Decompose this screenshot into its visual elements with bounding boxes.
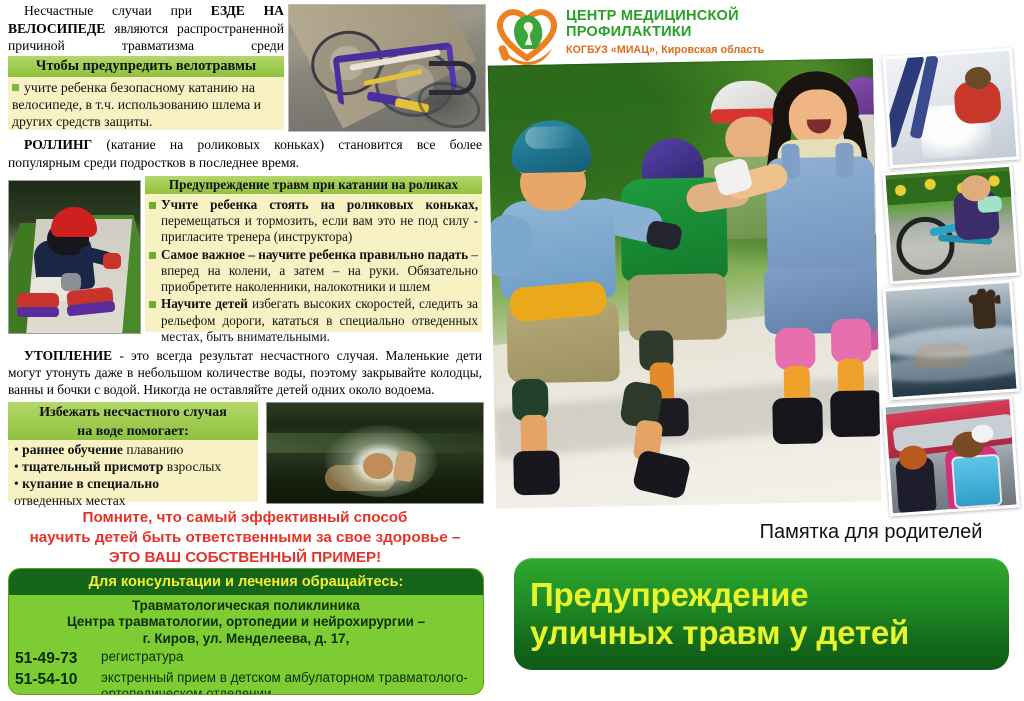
child-rollerblading-photo bbox=[8, 180, 141, 334]
contact-address: г. Киров, ул. Менделеева, д. 17, bbox=[15, 631, 477, 647]
school-backpack bbox=[951, 454, 1003, 509]
contact-center-name: Центра травматологии, ортопедии и нейрох… bbox=[15, 614, 477, 630]
middle-child-shorts bbox=[628, 273, 727, 341]
roller-tip-item: Самое важное – научите ребенка правильно… bbox=[149, 247, 478, 296]
child-helmet-red bbox=[51, 207, 97, 237]
water-tip-bold: раннее обучение bbox=[22, 442, 123, 457]
roller-tip-bold: Самое важное – научите ребенка правильно… bbox=[161, 247, 468, 262]
phone-row: 51-54-10 экстренный прием в детском амбу… bbox=[15, 670, 477, 695]
boy-rollerblade-left bbox=[513, 450, 560, 495]
drowning-photo bbox=[266, 402, 484, 504]
bullet-square-icon bbox=[149, 252, 156, 259]
water-tip-body: • раннее обучение плаванию • тщательный … bbox=[8, 440, 258, 502]
girl-rollerblade-right bbox=[830, 390, 881, 437]
phone-number[interactable]: 51-54-10 bbox=[15, 670, 101, 689]
brochure-page: Несчастные случаи при ЕЗДЕ НА ВЕЛОСИПЕДЕ… bbox=[0, 0, 1024, 701]
phone-number[interactable]: 51-49-73 bbox=[15, 649, 101, 668]
contact-body: Травматологическая поликлиника Центра тр… bbox=[9, 595, 483, 695]
roller-tip-header: Предупреждение травм при катании на роли… bbox=[145, 176, 482, 194]
drowning-hand-photo bbox=[882, 280, 1019, 401]
remember-message: Помните, что самый эффективный способ на… bbox=[8, 508, 482, 568]
water-bullet: • bbox=[14, 459, 19, 474]
girl-knee-pad-left bbox=[775, 328, 816, 371]
logo-line-1: ЦЕНТР МЕДИЦИНСКОЙ bbox=[566, 8, 764, 24]
rolling-intro-paragraph: РОЛЛИНГ (катание на роликовых коньках) с… bbox=[8, 136, 482, 171]
logo-line-2: ПРОФИЛАКТИКИ bbox=[566, 24, 764, 40]
photo-strip bbox=[886, 52, 1020, 512]
drowning-paragraph: УТОПЛЕНИЕ - это всегда результат несчаст… bbox=[8, 347, 482, 398]
bullet-square-icon bbox=[12, 84, 19, 91]
roller-tip-bold: Научите детей bbox=[161, 296, 248, 311]
bike-tip-header: Чтобы предупредить велотравмы bbox=[8, 56, 284, 77]
hand-fingers bbox=[968, 287, 1001, 305]
water-tip-rest: взрослых bbox=[163, 459, 221, 474]
phone-row: 51-49-73 регистратура bbox=[15, 649, 477, 668]
main-title-line-2: уличных травм у детей bbox=[530, 614, 909, 652]
roller-tip-bold: Учите ребенка стоять на роликовых конька… bbox=[161, 197, 478, 212]
bike-intro-prefix: Несчастные случаи при bbox=[24, 3, 211, 18]
phone-description: регистратура bbox=[101, 649, 477, 665]
remember-line-2: научить детей быть ответственными за сво… bbox=[8, 528, 482, 548]
contact-header: Для консультации и лечения обращайтесь: bbox=[9, 569, 483, 595]
water-tip-rest: купание в специально bbox=[22, 476, 159, 491]
bullet-square-icon bbox=[149, 202, 156, 209]
bicycle-fall-photo bbox=[882, 164, 1019, 285]
main-title-box: Предупреждение уличных травм у детей bbox=[514, 558, 1009, 670]
girl-overall-strap-right bbox=[835, 143, 854, 177]
rolling-intro-bold: РОЛЛИНГ bbox=[24, 137, 92, 152]
water-tip-bold: тщательный присмотр bbox=[22, 459, 163, 474]
water-tip-item: • тщательный присмотр взрослых bbox=[14, 459, 254, 476]
child-skate-left-wheels bbox=[17, 307, 59, 317]
child-wrist-guard bbox=[103, 253, 121, 269]
fallen-bicycle-photo bbox=[288, 4, 486, 132]
water-tip-item: • раннее обучение плаванию bbox=[14, 442, 254, 459]
bullet-square-icon bbox=[149, 301, 156, 308]
water-bullet: • bbox=[14, 442, 19, 457]
remember-line-1: Помните, что самый эффективный способ bbox=[8, 508, 482, 528]
contact-box: Для консультации и лечения обращайтесь: … bbox=[8, 568, 484, 695]
water-tip-header-line1: Избежать несчастного случая bbox=[8, 403, 258, 422]
bike-tip-item-text: учите ребенка безопасному катанию на вел… bbox=[12, 80, 261, 129]
bike-tip-body: учите ребенка безопасному катанию на вел… bbox=[8, 77, 284, 130]
left-panel: Несчастные случаи при ЕЗДЕ НА ВЕЛОСИПЕДЕ… bbox=[0, 0, 490, 701]
girl-face bbox=[788, 89, 847, 146]
children-rollerblading-hero-photo bbox=[488, 58, 881, 508]
organization-logo: ЦЕНТР МЕДИЦИНСКОЙ ПРОФИЛАКТИКИ КОГБУЗ «М… bbox=[492, 4, 832, 68]
drowning-bold: УТОПЛЕНИЕ bbox=[24, 348, 112, 363]
water-bullet: • bbox=[14, 476, 19, 491]
roller-tip-item: Учите ребенка стоять на роликовых конька… bbox=[149, 197, 478, 246]
heart-hand-logo-icon bbox=[492, 4, 562, 66]
logo-line-3: КОГБУЗ «МИАЦ», Кировская область bbox=[566, 44, 764, 56]
roller-tip-body: Учите ребенка стоять на роликовых конька… bbox=[145, 194, 482, 332]
water-tip-item: • купание в специально bbox=[14, 476, 254, 493]
water-tip-item-cont: отведенных местах bbox=[14, 493, 254, 510]
roller-tip-rest: перемещаться и тормозить, если вам это н… bbox=[161, 213, 478, 244]
skiing-photo bbox=[882, 48, 1019, 169]
phone-description: экстренный прием в детском амбулаторном … bbox=[101, 670, 477, 695]
girl-knee-pad-right bbox=[831, 318, 872, 363]
child-knee-pad bbox=[61, 273, 81, 291]
roller-tip-item: Научите детей избегать высоких скоростей… bbox=[149, 296, 478, 345]
contact-clinic-name: Травматологическая поликлиника bbox=[15, 598, 477, 614]
water-tip-header: Избежать несчастного случая на воде помо… bbox=[8, 402, 258, 440]
water-tip-rest: плаванию bbox=[123, 442, 183, 457]
remember-line-3: ЭТО ВАШ СОБСТВЕННЫЙ ПРИМЕР! bbox=[8, 548, 482, 568]
girl-rollerblade-left bbox=[772, 397, 823, 444]
children-near-road-photo bbox=[882, 396, 1019, 517]
logo-text-block: ЦЕНТР МЕДИЦИНСКОЙ ПРОФИЛАКТИКИ КОГБУЗ «М… bbox=[566, 8, 764, 56]
main-title-line-1: Предупреждение bbox=[530, 576, 808, 614]
right-panel: ЦЕНТР МЕДИЦИНСКОЙ ПРОФИЛАКТИКИ КОГБУЗ «М… bbox=[490, 0, 1024, 701]
boy-helmet-vent bbox=[525, 126, 577, 149]
drowning-head bbox=[363, 453, 393, 479]
water-tip-header-line2: на воде помогает: bbox=[8, 422, 258, 441]
logo-svg bbox=[492, 4, 562, 66]
subtitle-text: Памятка для родителей bbox=[726, 521, 1016, 544]
